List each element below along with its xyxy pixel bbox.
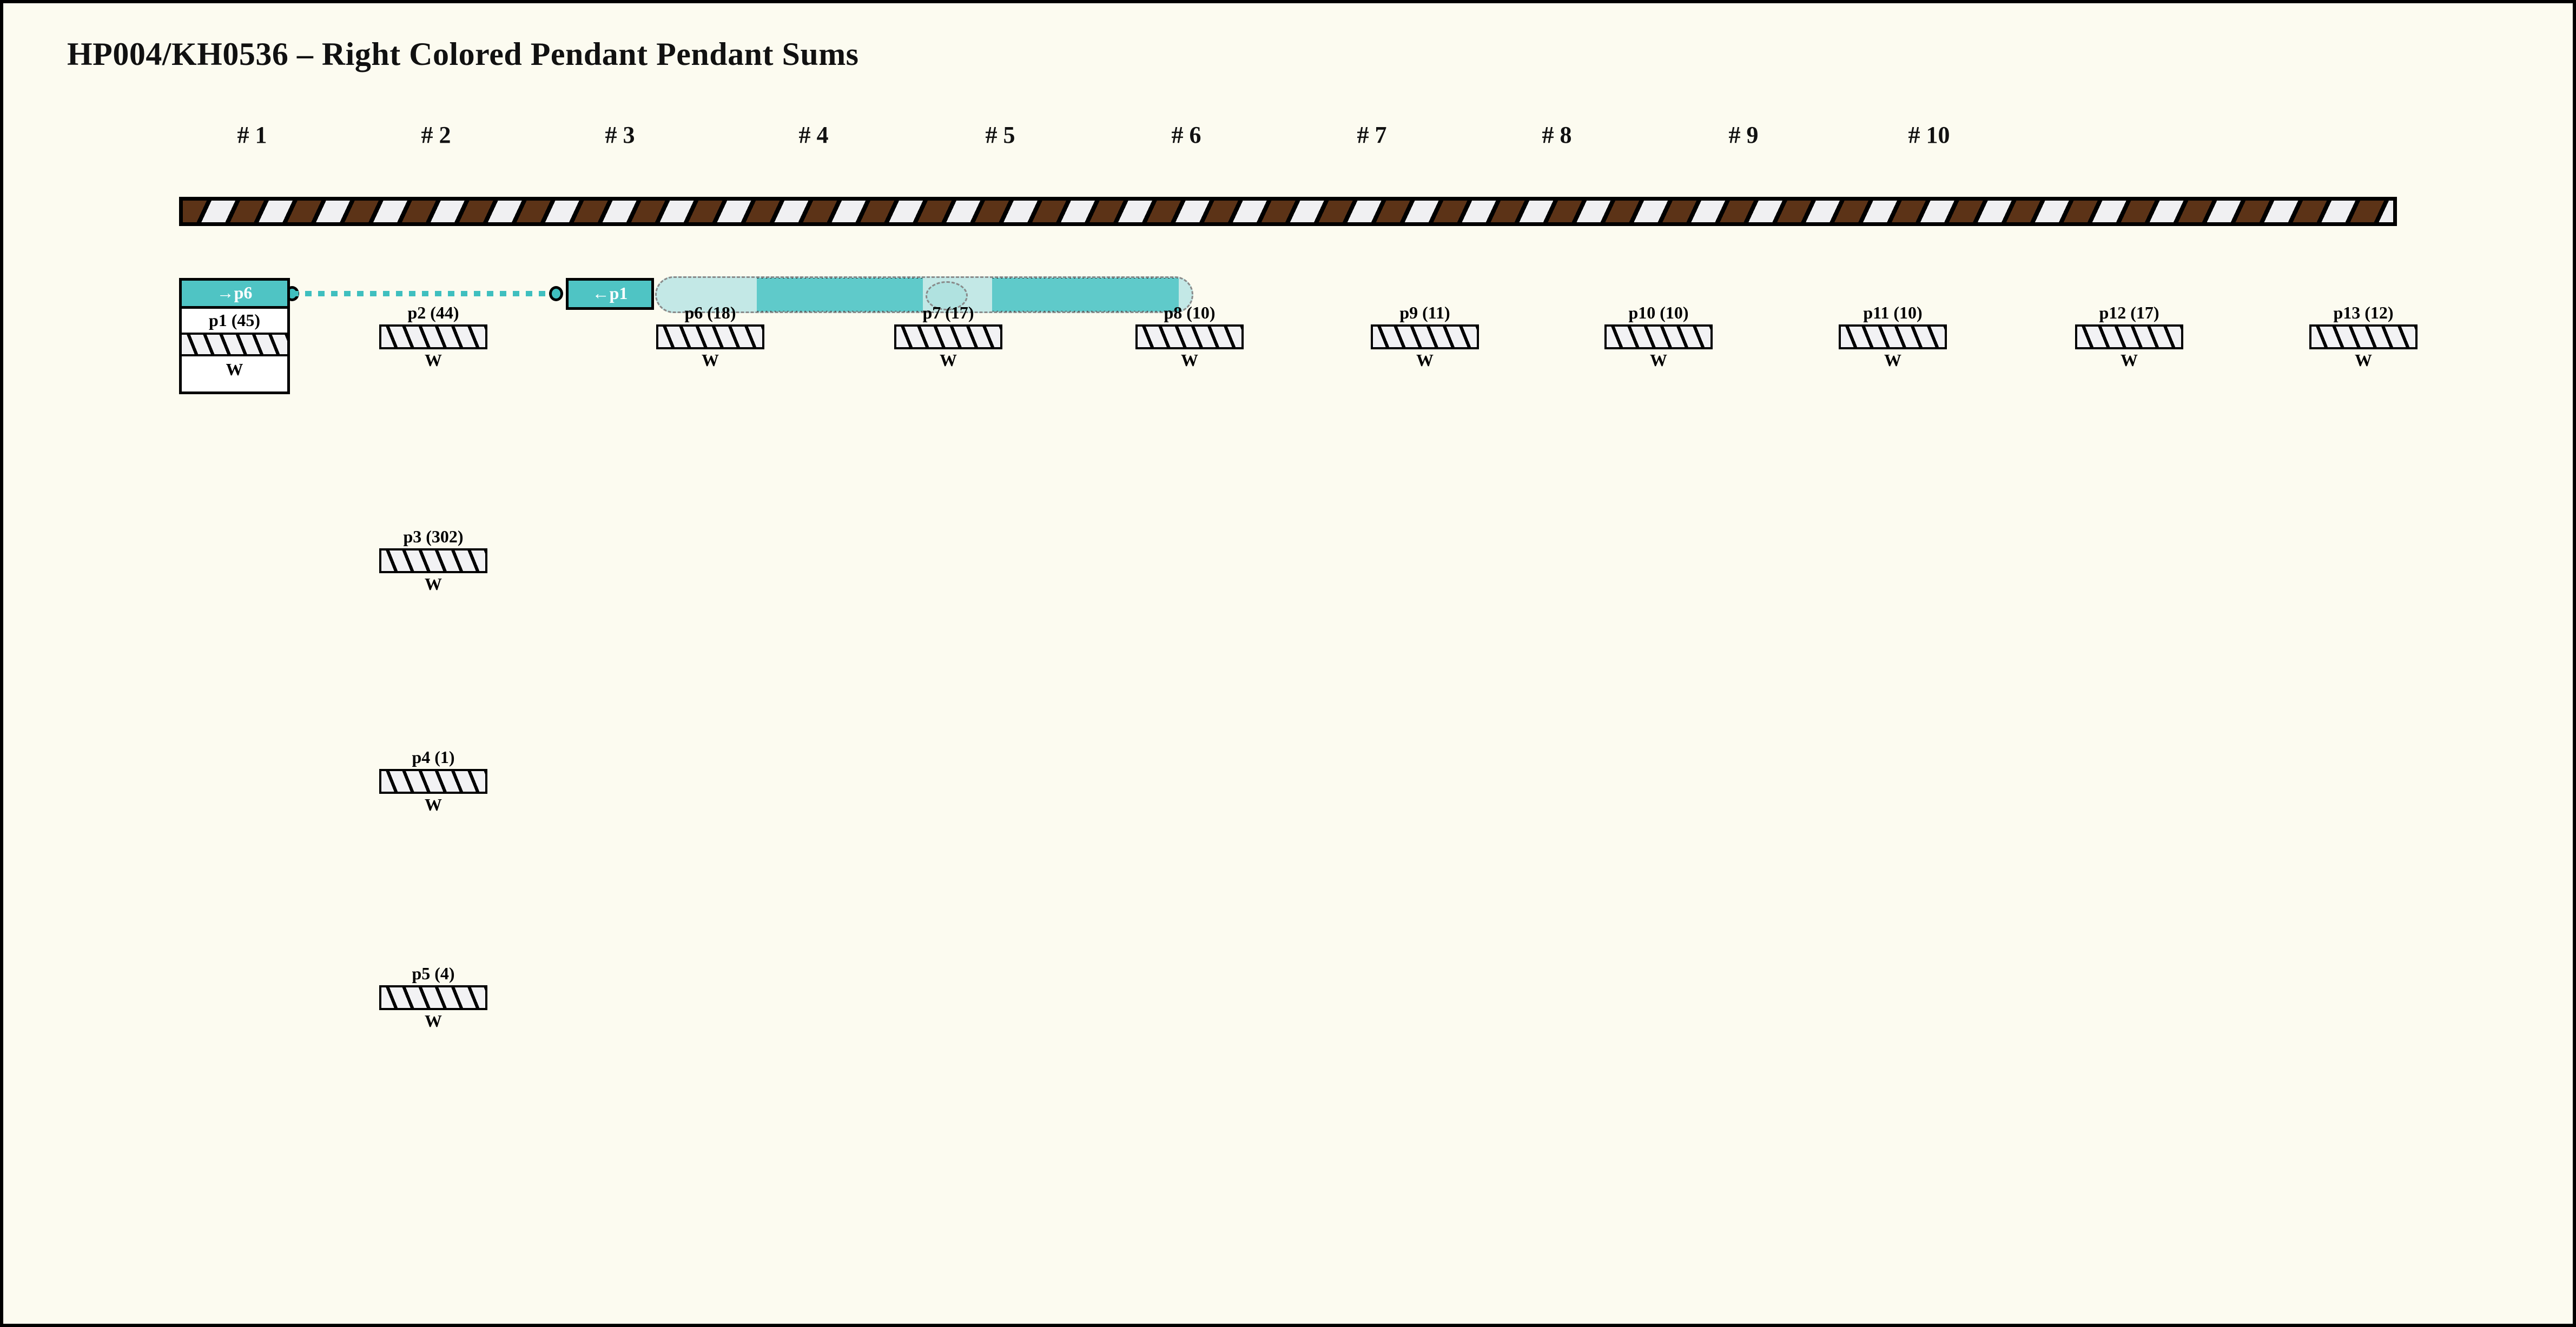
pendant-p5-label: p5 (4) [363,965,504,983]
khipu-diagram-canvas: HP004/KH0536 – Right Colored Pendant Pen… [0,0,2576,1327]
pendant-p9-color-code: W [1355,351,1495,370]
pendant-p8[interactable]: p8 (10) W [1119,304,1260,369]
pendant-p11-color-code: W [1822,351,1963,370]
pendant-p13-color-code: W [2293,351,2434,370]
pendant-p3-color-code: W [363,575,504,594]
pendant-p12-label: p12 (17) [2059,304,2199,322]
pendant-p8-label: p8 (10) [1119,304,1260,322]
pendant-p5-knot-bar [379,985,487,1010]
pendant-p12[interactable]: p12 (17) W [2059,304,2199,369]
column-header-4: # 4 [743,121,884,149]
column-header-1: # 1 [182,121,322,149]
pendant-p4-label: p4 (1) [363,748,504,767]
pendant-p6[interactable]: p6 (18) W [640,304,781,369]
pendant-p2-label: p2 (44) [363,304,504,322]
pendant-link-connector [292,291,554,296]
pendant-p2[interactable]: p2 (44) W [363,304,504,369]
column-header-2: # 2 [366,121,506,149]
pendant-p2-knot-bar [379,324,487,349]
pendant-p9[interactable]: p9 (11) W [1355,304,1495,369]
pendant-p12-color-code: W [2059,351,2199,370]
pendant-p5[interactable]: p5 (4) W [363,965,504,1030]
pendant-p10-color-code: W [1588,351,1729,370]
pendant-p9-knot-bar [1371,324,1479,349]
pendant-p1-link-badge[interactable]: →p6 [182,281,287,309]
pendant-p8-color-code: W [1119,351,1260,370]
pendant-p13[interactable]: p13 (12) W [2293,304,2434,369]
pendant-p7[interactable]: p7 (17) W [878,304,1019,369]
pendant-p1-knot-bar [182,333,287,356]
pendant-p8-knot-bar [1135,324,1244,349]
pendant-p4[interactable]: p4 (1) W [363,748,504,814]
pendant-p9-label: p9 (11) [1355,304,1495,322]
pendant-p10-label: p10 (10) [1588,304,1729,322]
pendant-p3[interactable]: p3 (302) W [363,528,504,593]
column-header-7: # 7 [1302,121,1442,149]
pendant-p1-selected[interactable]: →p6 p1 (45) W [179,278,290,394]
column-header-10: # 10 [1859,121,1999,149]
pendant-p11[interactable]: p11 (10) W [1822,304,1963,369]
column-header-5: # 5 [930,121,1071,149]
pendant-p12-knot-bar [2075,324,2183,349]
pendant-p5-color-code: W [363,1012,504,1031]
connector-endpoint-right [549,286,563,301]
pendant-p11-label: p11 (10) [1822,304,1963,322]
pendant-p1-label: p1 (45) [182,309,287,333]
main-cord[interactable] [179,197,2397,226]
page-title: HP004/KH0536 – Right Colored Pendant Pen… [67,36,859,73]
pendant-p11-knot-bar [1839,324,1947,349]
pendant-p7-label: p7 (17) [878,304,1019,322]
column-header-9: # 9 [1673,121,1814,149]
pendant-p6-label: p6 (18) [640,304,781,322]
pendant-p6-knot-bar [656,324,764,349]
pendant-p6-color-code: W [640,351,781,370]
pendant-p13-knot-bar [2309,324,2418,349]
column-header-8: # 8 [1487,121,1627,149]
pendant-p10-knot-bar [1604,324,1713,349]
pendant-p3-label: p3 (302) [363,528,504,546]
column-header-3: # 3 [550,121,690,149]
pendant-p3-knot-bar [379,548,487,573]
pendant-p1-color-code: W [182,356,287,392]
pendant-p2-color-code: W [363,351,504,370]
pendant-p7-knot-bar [894,324,1002,349]
pendant-p4-color-code: W [363,796,504,814]
pendant-p7-color-code: W [878,351,1019,370]
pendant-p10[interactable]: p10 (10) W [1588,304,1729,369]
pendant-p4-knot-bar [379,769,487,794]
column-header-6: # 6 [1116,121,1257,149]
pendant-p13-label: p13 (12) [2293,304,2434,322]
